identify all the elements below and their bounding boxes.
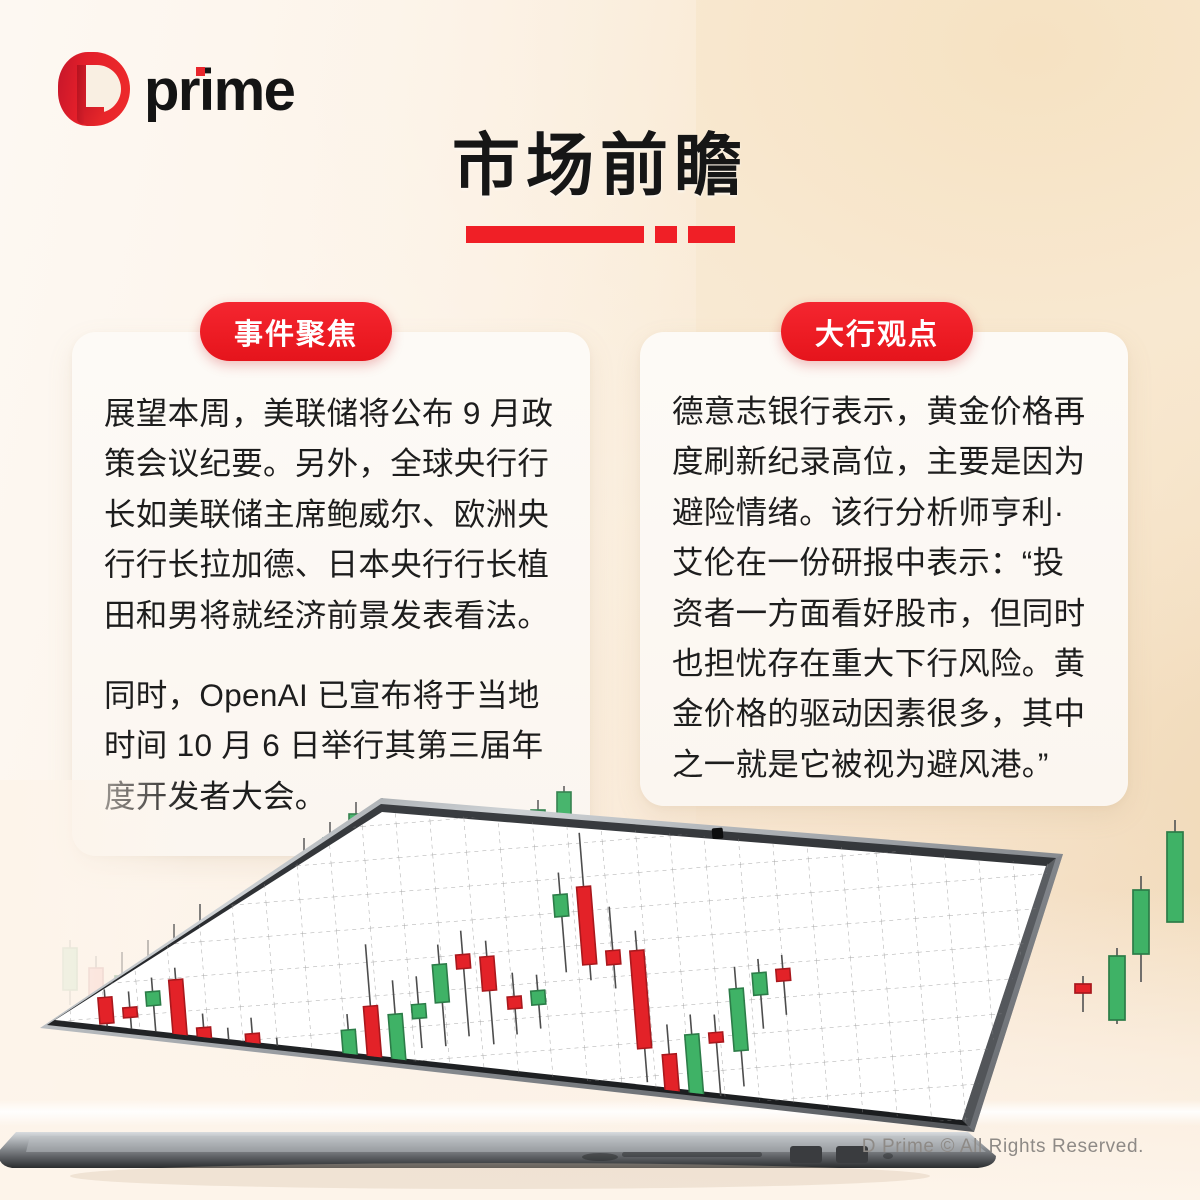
brand-wordmark-text: prime [144, 58, 294, 123]
card-badge-label: 大行观点 [815, 311, 939, 353]
i-dot-accent-icon [196, 67, 205, 76]
brand-wordmark: prime [144, 58, 294, 120]
card-badge-label: 事件聚焦 [234, 311, 358, 353]
title-divider [0, 226, 1200, 243]
card-paragraph: 德意志银行表示，黄金价格再度刷新纪录高位，主要是因为避险情绪。该行分析师亨利·艾… [672, 386, 1096, 789]
footer-copyright: D Prime © All Rights Reserved. [862, 1136, 1144, 1158]
d-prime-logo-icon [58, 52, 130, 126]
card-paragraph: 展望本周，美联储将公布 9 月政策会议纪要。另外，全球央行行长如美联储主席鲍威尔… [104, 388, 558, 640]
card-bank-view-body: 德意志银行表示，黄金价格再度刷新纪录高位，主要是因为避险情绪。该行分析师亨利·艾… [640, 386, 1128, 789]
card-event-focus: 事件聚焦 展望本周，美联储将公布 9 月政策会议纪要。另外，全球央行行长如美联储… [72, 332, 590, 856]
page-title: 市场前瞻 [0, 132, 1200, 200]
page-title-block: 市场前瞻 [0, 132, 1200, 243]
card-bank-view: 大行观点 德意志银行表示，黄金价格再度刷新纪录高位，主要是因为避险情绪。该行分析… [640, 332, 1128, 806]
card-event-focus-body: 展望本周，美联储将公布 9 月政策会议纪要。另外，全球央行行长如美联储主席鲍威尔… [72, 388, 590, 821]
brand-logo: prime [58, 52, 294, 126]
divider-segment-dot [655, 226, 677, 243]
divider-segment-mid [688, 226, 735, 243]
divider-segment-long [466, 226, 644, 243]
card-badge-event-focus: 事件聚焦 [200, 302, 392, 361]
card-badge-bank-view: 大行观点 [781, 302, 973, 361]
